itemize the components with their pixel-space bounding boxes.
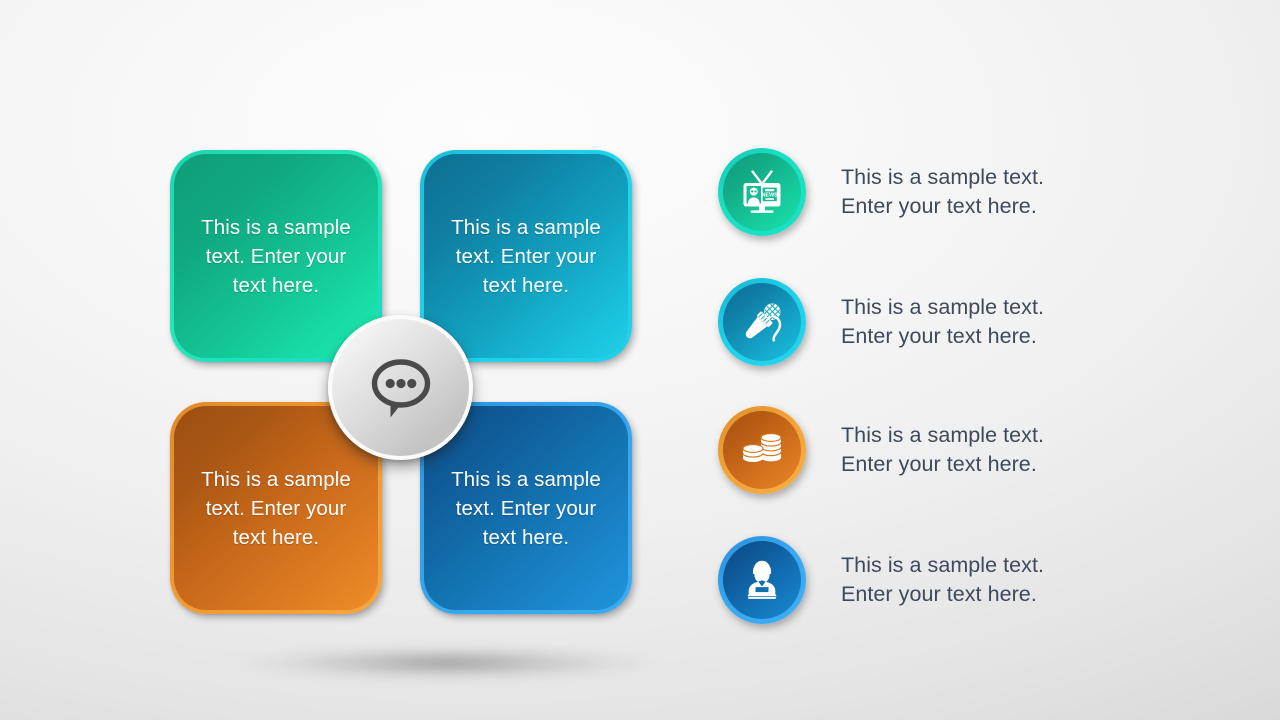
list-item[interactable]: This is a sample text. Enter your text h… xyxy=(718,536,1044,624)
list-item[interactable]: NEWS This is a sample text. Enter your t… xyxy=(718,148,1044,236)
tile-top-right[interactable]: This is a sample text. Enter your text h… xyxy=(420,150,632,362)
floor-shadow xyxy=(175,640,720,686)
list-item[interactable]: This is a sample text. Enter your text h… xyxy=(718,278,1044,366)
microphone-icon xyxy=(736,296,788,348)
tile-label: This is a sample text. Enter your text h… xyxy=(192,465,360,552)
badge-microphone[interactable] xyxy=(718,278,806,366)
badge-inner-fill xyxy=(723,541,801,619)
slide-canvas: This is a sample text. Enter your text h… xyxy=(0,0,1280,720)
list-item-text: This is a sample text. Enter your text h… xyxy=(841,163,1044,221)
svg-text:NEWS: NEWS xyxy=(762,193,779,199)
list-item[interactable]: This is a sample text. Enter your text h… xyxy=(718,406,1044,494)
badge-coins[interactable] xyxy=(718,406,806,494)
tv-news-icon: NEWS xyxy=(736,166,788,218)
list-item-text: This is a sample text. Enter your text h… xyxy=(841,293,1044,351)
center-hub[interactable] xyxy=(328,315,473,460)
coins-stack-icon xyxy=(737,425,787,475)
speech-bubble-dots-icon xyxy=(366,355,436,421)
badge-person-laptop[interactable] xyxy=(718,536,806,624)
list-item-text: This is a sample text. Enter your text h… xyxy=(841,551,1044,609)
tile-label: This is a sample text. Enter your text h… xyxy=(442,213,610,300)
person-laptop-icon xyxy=(737,555,787,605)
tile-label: This is a sample text. Enter your text h… xyxy=(192,213,360,300)
badge-tv-news[interactable]: NEWS xyxy=(718,148,806,236)
tile-top-left[interactable]: This is a sample text. Enter your text h… xyxy=(170,150,382,362)
badge-inner-fill xyxy=(723,283,801,361)
tile-label: This is a sample text. Enter your text h… xyxy=(442,465,610,552)
badge-inner-fill xyxy=(723,411,801,489)
badge-inner-fill: NEWS xyxy=(723,153,801,231)
list-item-text: This is a sample text. Enter your text h… xyxy=(841,421,1044,479)
